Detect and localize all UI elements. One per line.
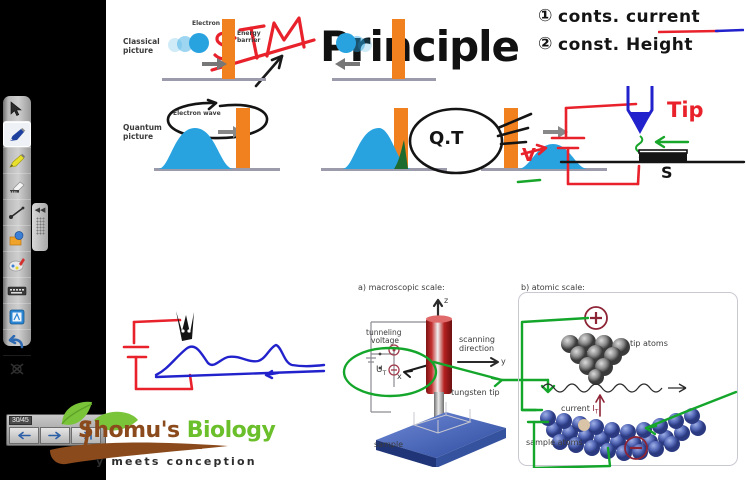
brand-logo-text: Shomu's Biology [78, 418, 275, 443]
quantum-panel1-wavefunction [158, 126, 234, 169]
annotation-toolbar[interactable] [3, 96, 31, 346]
current-subscript: T [595, 409, 599, 416]
tunneling-voltage-label-line2: voltage [371, 336, 399, 345]
line-tool[interactable] [3, 199, 31, 225]
current-label: current IT [561, 404, 598, 417]
energy-barrier-label-line1: Energy [237, 30, 261, 37]
quantum-panel1-barrier [236, 108, 250, 168]
prev-page-button[interactable] [9, 427, 39, 444]
tungsten-tip-label: tungsten tip [451, 388, 500, 397]
atomic-scale-caption: b) atomic scale: [521, 283, 585, 292]
whiteboard-canvas[interactable]: Principle STM ① conts. current ② const. … [106, 0, 746, 480]
const-height-item-text: const. Height [558, 35, 693, 55]
constant-current-sketch-ink [116, 297, 346, 407]
collapse-arrows-icon: ◀◀ [35, 207, 46, 214]
sample-s-label: S [661, 163, 673, 182]
electron-label: Electron [192, 20, 220, 27]
sample-label: sample [374, 440, 403, 449]
ut-symbol: U [376, 365, 383, 375]
energy-barrier-label-line2: barrier [237, 37, 260, 44]
current-text: current [561, 404, 590, 413]
brand-tagline: y meets conception [96, 455, 257, 468]
classical-picture-label-line1: Classical [123, 37, 160, 46]
classical-panel2-ground [332, 78, 436, 81]
page-indicator: 30/45 [9, 416, 32, 425]
tip-label: Tip [667, 98, 704, 122]
electron-wave-label: Electron wave [173, 110, 221, 117]
quantum-picture-label-line2: picture [123, 132, 153, 141]
classical-panel2-arrow-icon [334, 58, 360, 70]
classical-panel1-barrier [222, 19, 235, 79]
sample-atoms-label: sample atoms [526, 438, 583, 447]
classical-panel1-electron [189, 33, 209, 53]
cursor-tool[interactable] [3, 96, 31, 121]
text-note-tool[interactable] [3, 303, 31, 329]
color-picker-tool[interactable] [3, 251, 31, 277]
classical-panel1-ground [162, 78, 266, 81]
next-page-button[interactable] [40, 427, 70, 444]
ut-label: UT [376, 366, 386, 378]
voltage-label: V [522, 145, 536, 166]
const-height-item-number: ② [538, 34, 552, 54]
pen-tool[interactable] [3, 121, 31, 147]
classical-panel2-electron [336, 33, 356, 53]
scanning-direction-label-line2: direction [459, 344, 494, 353]
toolbar-collapse-handle[interactable]: ◀◀ [32, 203, 48, 251]
drag-grip-icon[interactable] [36, 217, 45, 235]
brand-name-part1: Shomu's [78, 418, 187, 443]
keyboard-tool[interactable] [3, 277, 31, 303]
highlighter-tool[interactable] [3, 147, 31, 173]
brand-name-part2: Biology [187, 418, 276, 443]
const-current-item-number: ① [538, 6, 552, 26]
classical-panel1-arrow-icon [202, 58, 228, 70]
ut-subscript: T [383, 370, 387, 377]
z-axis-label: z [444, 296, 448, 305]
clear-tool[interactable] [3, 355, 31, 381]
x-axis-label: x [397, 372, 402, 381]
classical-picture-label-line2: picture [123, 46, 153, 55]
quantum-picture-label-line1: Quantum [123, 123, 162, 132]
undo-tool[interactable] [3, 329, 31, 355]
y-axis-label: y [501, 357, 506, 366]
tip-atoms-label: tip atoms [630, 339, 668, 348]
eraser-tool[interactable] [3, 173, 31, 199]
const-current-item-text: conts. current [558, 7, 700, 27]
shape-fill-tool[interactable] [3, 225, 31, 251]
app-window: Principle STM ① conts. current ② const. … [0, 0, 746, 480]
quantum-panel2-wavefunction [342, 126, 412, 169]
macroscopic-scale-caption: a) macroscopic scale: [358, 283, 445, 292]
classical-panel2-barrier [392, 19, 405, 79]
quantum-panel3-arrow-icon [543, 126, 569, 138]
quantum-tunneling-label: Q.T [429, 128, 463, 149]
quantum-panel3-barrier [504, 108, 518, 168]
scanning-direction-label-line1: scanning [459, 335, 495, 344]
